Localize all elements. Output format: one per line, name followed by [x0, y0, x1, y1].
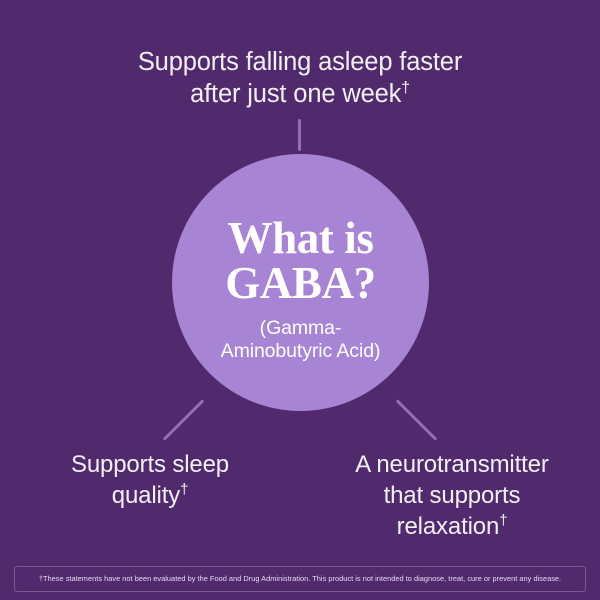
dagger-icon-bottom-left: † [180, 482, 188, 498]
label-bottom-right-line-2: that supports [384, 482, 521, 509]
connector-line-bottom-right [396, 399, 438, 441]
label-bottom-left-line-1: Supports sleep [71, 451, 229, 478]
circle-subtitle-line-1: (Gamma- [260, 317, 342, 339]
footnote-text: †These statements have not been evaluate… [39, 574, 561, 584]
connector-line-top [298, 119, 301, 151]
label-bottom-right-line-3: relaxation [397, 513, 500, 540]
connector-line-bottom-left [163, 399, 205, 441]
label-bottom-left-line-2: quality [112, 482, 180, 509]
circle-title: What is GABA? [213, 216, 388, 305]
circle-subtitle-line-2: Aminobutyric Acid) [221, 340, 381, 362]
label-top-line-2: after just one week [190, 80, 401, 108]
footnote-box: †These statements have not been evaluate… [14, 566, 586, 592]
center-circle: What is GABA? (Gamma- Aminobutyric Acid) [172, 154, 429, 411]
label-supports-sleep-quality: Supports sleep quality† [12, 449, 288, 511]
label-bottom-right-line-1: A neurotransmitter [355, 451, 548, 478]
gaba-infographic: Supports falling asleep faster after jus… [0, 0, 600, 600]
label-neurotransmitter-relaxation: A neurotransmitter that supports relaxat… [312, 449, 592, 543]
dagger-icon-bottom-right: † [499, 513, 507, 529]
circle-subtitle: (Gamma- Aminobutyric Acid) [199, 317, 403, 363]
label-top-line-1: Supports falling asleep faster [138, 48, 462, 76]
circle-title-line-1: What is [228, 213, 374, 263]
dagger-icon-top: † [401, 80, 410, 97]
label-supports-falling-asleep: Supports falling asleep faster after jus… [80, 46, 520, 110]
circle-title-line-2: GABA? [225, 258, 376, 308]
